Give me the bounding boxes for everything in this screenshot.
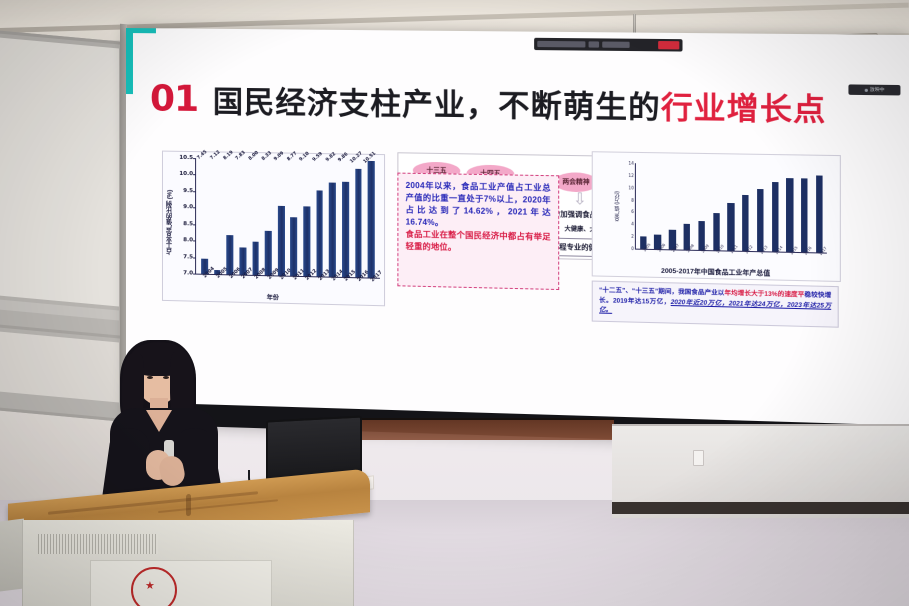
cabinet-kickplate: [612, 502, 909, 514]
chart-bars: 7.4520047.1220058.1920067.8320078.002008…: [196, 158, 380, 278]
chart-y-tick: 10.5: [179, 155, 193, 161]
right-chart-bar-group: 2014: [768, 165, 783, 251]
whiteboard-surface-lower: [0, 331, 119, 402]
chart-bar-value: 10.27: [349, 151, 363, 164]
right-chart-bar-group: 2007: [665, 164, 680, 250]
chart-bar: 9.82: [329, 183, 336, 277]
chart-bar-value: 7.45: [197, 150, 209, 161]
slide-title: 01 国民经济支柱产业，不断萌生的行业增长点: [150, 76, 826, 130]
chart-bar: 10.51: [368, 161, 375, 278]
chart-bar-value: 8.33: [261, 151, 273, 162]
chart-y-tick: 9.5: [183, 188, 193, 194]
chart-y-tick: 8.5: [183, 221, 193, 227]
chart-bar-value: 7.12: [210, 150, 222, 161]
right-chart-y-tick: 10: [628, 185, 633, 190]
wood-knot: [186, 494, 191, 516]
chart-bar: 8.77: [291, 217, 298, 276]
chart-x-axis-label: 年份: [163, 290, 384, 304]
right-chart-bars: 2005200620072008200920102011201220132014…: [636, 163, 827, 252]
chart-y-tick: 10.0: [179, 171, 193, 177]
chart-bar: 10.27: [355, 168, 362, 277]
chart-bar: 8.33: [265, 231, 272, 275]
cabinet-door[interactable]: [758, 426, 829, 514]
chart-bar-group: 10.512017: [365, 161, 378, 278]
projection-screen[interactable]: 放映中 01 国民经济支柱产业，不断萌生的行业增长点 十三五 十四五 两会精神 …: [126, 28, 909, 449]
toolbar-icon[interactable]: [589, 41, 600, 47]
slide-canvas: 放映中 01 国民经济支柱产业，不断萌生的行业增长点 十三五 十四五 两会精神 …: [126, 28, 909, 449]
chart-y-tick: 8.0: [183, 237, 193, 243]
chart-y-tick: 9.0: [183, 204, 193, 210]
chart-bar: 9.09: [278, 206, 285, 275]
chart-bar-group: 10.272016: [352, 161, 365, 278]
cabinet-door[interactable]: [686, 426, 759, 514]
right-chart-bar-group: 2013: [753, 165, 768, 251]
chart-bar-group: 7.832007: [236, 159, 249, 275]
right-chart-y-tick: 6: [631, 209, 634, 214]
right-chart-y-tick: 12: [628, 173, 633, 178]
right-chart-bar-group: 2011: [724, 165, 739, 251]
chart-bar-group: 8.002008: [249, 159, 262, 275]
growth-note-highlight: 年均增长大于13%的速度平: [724, 290, 804, 299]
presenter-eye-right: [163, 376, 169, 379]
emblem-star-icon: ★: [145, 579, 155, 592]
right-chart-y-tick: 4: [631, 222, 634, 227]
growth-note-text: “十二五”、“十三五”期间，我国食品产业以年均增长大于13%的速度平稳较快增长。…: [599, 286, 831, 321]
right-chart-bar: [742, 195, 749, 251]
cabinet-door[interactable]: [828, 426, 871, 514]
chart-bar-group: 9.092010: [275, 159, 288, 275]
chart-bar-value: 8.77: [286, 151, 298, 162]
chart-bar-group: 9.822014: [326, 160, 339, 277]
back-wall-wood-strip: [338, 420, 614, 440]
chart-bar: 8.00: [252, 242, 259, 275]
chart-bar: 7.83: [239, 247, 246, 275]
right-chart-bar-group: 2010: [709, 164, 724, 250]
lecture-room-scene: 放映中 01 国民经济支柱产业，不断萌生的行业增长点 十三五 十四五 两会精神 …: [0, 0, 909, 606]
chart-bar-value: 9.09: [273, 151, 285, 162]
chart-bar-group: 7.122005: [211, 158, 224, 274]
growth-note-box: “十二五”、“十三五”期间，我国食品产业以年均增长大于13%的速度平稳较快增长。…: [592, 281, 839, 328]
cabinet-door[interactable]: [870, 426, 909, 514]
right-chart-y-tick: 0: [631, 246, 634, 251]
industry-share-chart: 占工业总产值的比例 (%) 7.4520047.1220058.1920067.…: [162, 151, 385, 307]
chart-bar-value: 9.59: [312, 152, 324, 163]
right-chart-bar-group: 2016: [797, 166, 812, 252]
chart-y-tick: 7.0: [183, 270, 193, 276]
right-chart-bar-group: 2008: [680, 164, 695, 250]
chart-bar-value: 10.51: [362, 151, 376, 165]
statistics-callout: 2004年以来，食品工业产值占工业总产值的比重一直处于7%以上，2020年占比达…: [397, 173, 559, 290]
chart-bar-group: 8.332009: [262, 159, 275, 275]
right-chart-y-label: 总产值 (万亿): [612, 175, 623, 237]
slide-title-accent: 行业增长点: [661, 82, 827, 130]
slide-accent-bar-top: [126, 28, 156, 33]
chart-bar-group: 8.772011: [288, 160, 301, 276]
right-chart-bar: [801, 178, 808, 252]
right-chart-bar: [786, 179, 793, 252]
slide-number: 01: [150, 78, 198, 120]
light-switch[interactable]: [693, 450, 704, 466]
chart-bar-value: 9.86: [338, 152, 350, 163]
chart-bar-value: 8.00: [248, 151, 260, 162]
chart-bar-value: 9.82: [325, 152, 337, 163]
right-chart-y-tick: 14: [628, 161, 633, 166]
chart-bar-value: 7.83: [235, 150, 247, 161]
toolbar-segment-2: [602, 42, 629, 48]
cabinet-door[interactable]: [612, 426, 687, 514]
whiteboard-upper: [0, 30, 128, 349]
growth-note-part1: “十二五”、“十三五”期间，我国食品产业以: [599, 287, 724, 297]
record-button[interactable]: [658, 41, 679, 49]
right-chart-plot-area: 2005200620072008200920102011201220132014…: [635, 163, 827, 253]
right-chart-y-tick: 2: [631, 234, 634, 239]
chart-y-tick: 7.5: [183, 254, 193, 260]
chart-bar-value: 9.10: [299, 151, 311, 162]
right-chart-bar: [713, 213, 720, 250]
right-chart-bar-group: 2006: [650, 163, 665, 249]
chart-bar: 9.10: [303, 206, 310, 276]
right-chart-bar: [728, 203, 735, 251]
output-value-chart: 总产值 (万亿) 2005200620072008200920102011201…: [592, 151, 841, 282]
chart-bar: 9.86: [342, 182, 349, 277]
slide-title-main: 国民经济支柱产业，不断萌生的: [213, 77, 661, 128]
status-dot-icon: [864, 88, 867, 91]
chart-bar-group: 8.192006: [224, 159, 237, 275]
right-chart-bar: [772, 182, 779, 252]
chart-bar-group: 9.102012: [300, 160, 313, 276]
right-chart-bar-group: 2017: [812, 166, 827, 253]
callout-text-highlight: 食品工业在整个国民经济中都占有举足轻重的地位。: [406, 229, 551, 256]
slide-status-label: 放映中: [870, 87, 885, 93]
right-chart-bar-group: 2012: [738, 165, 753, 251]
callout-text-main: 2004年以来，食品工业产值占工业总产值的比重一直处于7%以上，2020年占比达…: [406, 180, 551, 232]
toolbar-segment: [537, 41, 585, 48]
chart-plot-area: 7.4520047.1220058.1920067.8320078.002008…: [195, 158, 380, 279]
podium-emblem-panel: ★: [90, 560, 272, 606]
slide-status-badge: 放映中: [848, 84, 900, 95]
right-chart-bar-group: 2005: [636, 163, 651, 249]
whiteboard-surface: [0, 37, 119, 306]
chart-bar-value: 8.19: [222, 150, 234, 161]
right-chart-y-tick: 8: [631, 197, 634, 202]
podium-side-panel: [0, 519, 24, 592]
right-chart-bar: [816, 175, 823, 252]
chart-y-axis-label: 占工业总产值的比例 (%): [164, 158, 176, 289]
presentation-toolbar[interactable]: [534, 38, 682, 52]
right-chart-bar: [757, 189, 764, 252]
right-chart-bar-group: 2009: [694, 164, 709, 250]
down-arrow-icon-2: ⇩: [573, 189, 587, 210]
chart-bar-group: 7.452004: [198, 158, 211, 274]
chart-bar: 9.59: [316, 190, 323, 276]
podium-vent: [38, 534, 158, 554]
chart-bar-group: 9.862015: [339, 160, 352, 277]
right-chart-caption: 2005-2017年中国食品工业年产总值: [593, 263, 840, 279]
chart-bar: 8.19: [227, 235, 234, 274]
presenter-eye-left: [147, 376, 153, 379]
chart-bar-group: 9.592013: [313, 160, 326, 277]
right-chart-bar-group: 2015: [782, 166, 797, 252]
slide-accent-bar: [126, 28, 133, 94]
